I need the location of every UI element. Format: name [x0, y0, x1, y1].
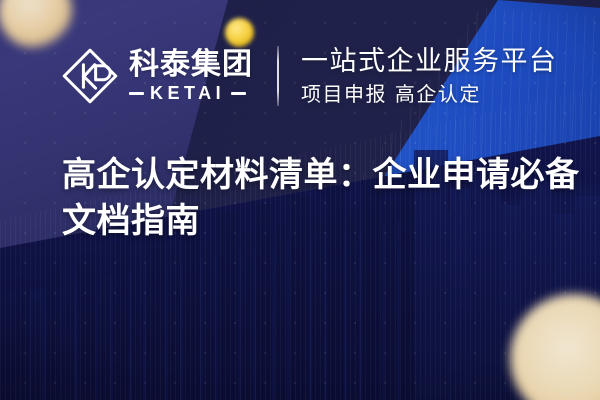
- brand-logo: 科泰集团 KETAI: [60, 46, 253, 106]
- brand-name-en: KETAI: [150, 84, 225, 103]
- ketai-diamond-kp-monogram-icon: [60, 46, 120, 106]
- tagline-main: 一站式企业服务平台: [301, 46, 558, 77]
- banner-header: 科泰集团 KETAI 一站式企业服务平台 项目申报 高企认定: [60, 40, 558, 112]
- dash-right-icon: [231, 92, 246, 95]
- brand-name-en-row: KETAI: [129, 84, 253, 103]
- page-title-line-1: 高企认定材料清单：企业申请必备: [62, 152, 552, 198]
- brand-wordmark: 科泰集团 KETAI: [129, 49, 253, 103]
- dash-left-icon: [129, 92, 144, 95]
- header-vertical-divider: [277, 46, 279, 106]
- tagline-sub: 项目申报 高企认定: [301, 82, 558, 106]
- brand-name-cn: 科泰集团: [129, 49, 253, 81]
- page-title-line-2: 文档指南: [62, 198, 552, 244]
- promo-banner: 科泰集团 KETAI 一站式企业服务平台 项目申报 高企认定 高企认定材料清单：…: [0, 0, 600, 400]
- page-title: 高企认定材料清单：企业申请必备 文档指南: [62, 152, 552, 244]
- tagline: 一站式企业服务平台 项目申报 高企认定: [301, 46, 558, 106]
